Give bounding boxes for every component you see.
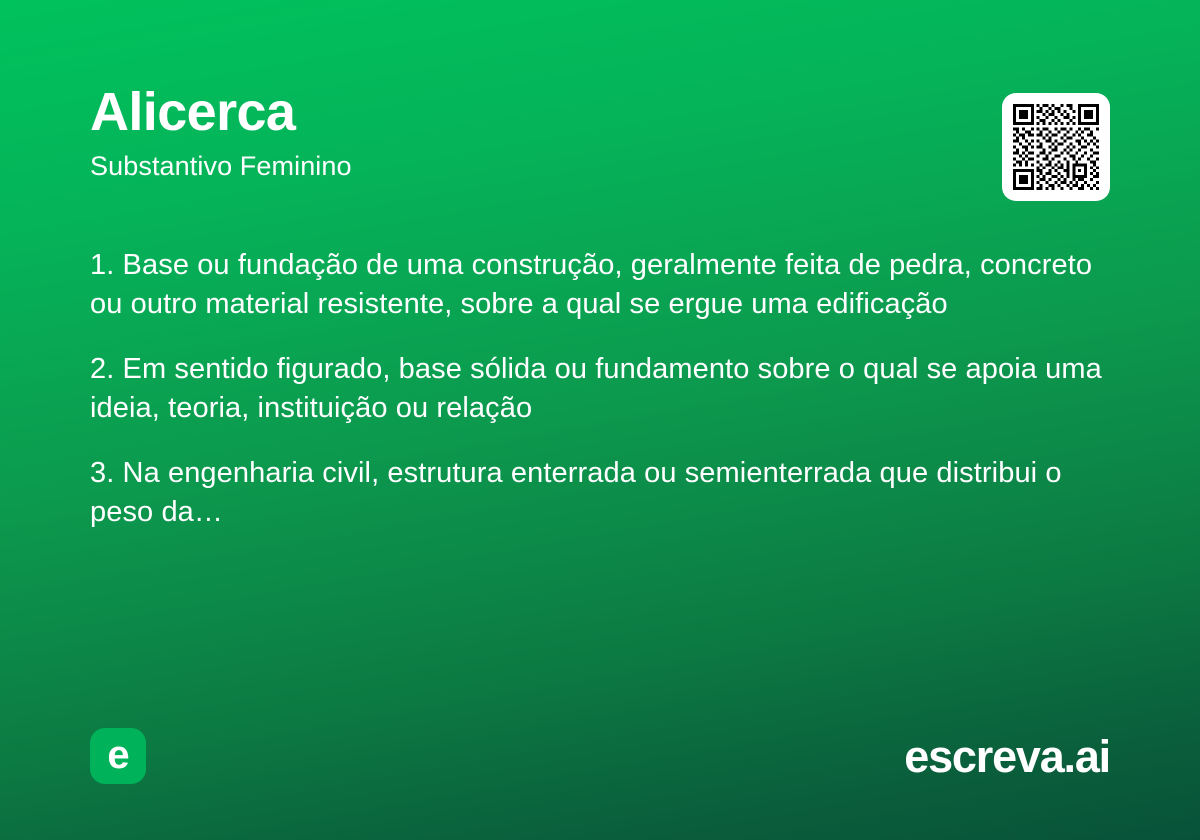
card-footer: e escreva.ai xyxy=(90,728,1110,784)
page-title: Alicerca xyxy=(90,84,352,140)
logo-letter: e xyxy=(107,735,128,775)
definition-item: 2. Em sentido figurado, base sólida ou f… xyxy=(90,350,1102,427)
qr-code-icon[interactable] xyxy=(1002,93,1110,201)
dictionary-card: Alicerca Substantivo Feminino xyxy=(0,0,1200,840)
definition-list: 1. Base ou fundação de uma construção, g… xyxy=(90,246,1102,531)
definition-item: 3. Na engenharia civil, estrutura enterr… xyxy=(90,454,1102,531)
brand-name: escreva.ai xyxy=(904,734,1110,779)
card-header: Alicerca Substantivo Feminino xyxy=(90,84,1110,201)
escreva-logo-icon: e xyxy=(90,728,146,784)
word-block: Alicerca Substantivo Feminino xyxy=(90,84,352,182)
word-class-label: Substantivo Feminino xyxy=(90,151,352,182)
definition-item: 1. Base ou fundação de uma construção, g… xyxy=(90,246,1102,323)
